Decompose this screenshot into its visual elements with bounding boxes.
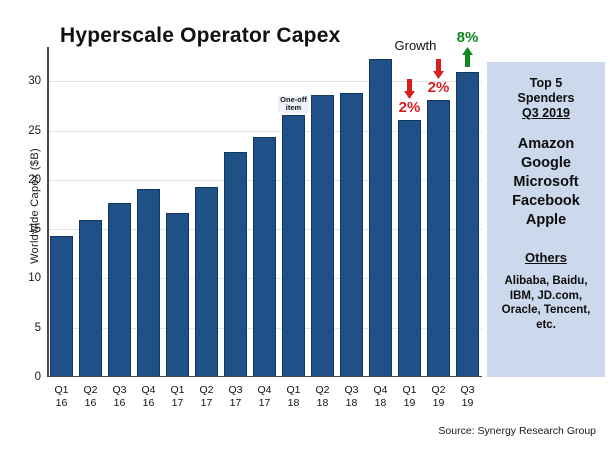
panel-company: Google	[487, 154, 605, 173]
growth-marker: 2%	[424, 58, 453, 96]
x-tick-quarter: Q1	[279, 384, 308, 397]
x-tick-year: 19	[395, 397, 424, 410]
panel-heading-line1: Top 5	[487, 76, 605, 91]
bar	[137, 189, 159, 377]
x-axis-tick-label: Q318	[337, 384, 366, 409]
x-axis-line	[47, 376, 482, 378]
y-axis-tick-label: 25	[28, 125, 41, 137]
bar	[340, 93, 362, 377]
panel-company-list: AmazonGoogleMicrosoftFacebookApple	[487, 135, 605, 230]
x-tick-quarter: Q2	[424, 384, 453, 397]
x-tick-year: 19	[424, 397, 453, 410]
x-tick-quarter: Q2	[192, 384, 221, 397]
bar	[311, 95, 333, 377]
bar	[282, 115, 304, 377]
one-off-item-annotation: One-off item	[278, 96, 309, 113]
x-tick-quarter: Q4	[250, 384, 279, 397]
x-tick-year: 18	[308, 397, 337, 410]
x-tick-year: 17	[221, 397, 250, 410]
x-axis-tick-label: Q416	[134, 384, 163, 409]
y-axis-tick-label: 10	[28, 272, 41, 284]
x-tick-year: 18	[279, 397, 308, 410]
x-tick-quarter: Q2	[76, 384, 105, 397]
panel-company: Microsoft	[487, 173, 605, 192]
x-tick-year: 17	[192, 397, 221, 410]
growth-value: 8%	[453, 30, 482, 46]
bar	[456, 72, 478, 377]
bar	[253, 137, 275, 377]
x-tick-quarter: Q2	[308, 384, 337, 397]
x-axis-tick-label: Q418	[366, 384, 395, 409]
x-tick-quarter: Q4	[366, 384, 395, 397]
x-tick-year: 16	[105, 397, 134, 410]
y-axis-tick-label: 20	[28, 174, 41, 186]
x-axis-tick-label: Q319	[453, 384, 482, 409]
y-axis-tick-label: 30	[28, 75, 41, 87]
panel-company: Apple	[487, 211, 605, 230]
bar	[398, 120, 420, 377]
x-axis-tick-label: Q316	[105, 384, 134, 409]
source-note: Source: Synergy Research Group	[438, 425, 596, 437]
bar	[108, 203, 130, 377]
y-axis-tick-label: 5	[35, 322, 41, 334]
x-tick-year: 17	[163, 397, 192, 410]
x-axis-tick-label: Q119	[395, 384, 424, 409]
panel-heading-line2: Spenders	[487, 91, 605, 106]
bar	[369, 59, 391, 377]
top-spenders-panel: Top 5 Spenders Q3 2019 AmazonGoogleMicro…	[487, 62, 605, 377]
y-axis-line	[47, 47, 49, 377]
x-tick-year: 16	[134, 397, 163, 410]
x-tick-quarter: Q3	[105, 384, 134, 397]
growth-value: 2%	[424, 80, 453, 96]
growth-arrow	[424, 58, 453, 80]
x-axis-tick-label: Q216	[76, 384, 105, 409]
growth-marker: 2%	[395, 78, 424, 116]
panel-others-heading: Others	[487, 250, 605, 265]
x-axis-tick-label: Q417	[250, 384, 279, 409]
x-tick-quarter: Q3	[337, 384, 366, 397]
arrow-up-icon	[461, 46, 474, 68]
bar	[79, 220, 101, 377]
y-axis-tick-label: 0	[35, 371, 41, 383]
growth-marker: 8%	[453, 30, 482, 68]
x-axis-tick-label: Q217	[192, 384, 221, 409]
growth-arrow	[395, 78, 424, 100]
x-tick-quarter: Q1	[47, 384, 76, 397]
arrow-down-icon	[432, 58, 445, 80]
x-axis-tick-label: Q218	[308, 384, 337, 409]
bar	[195, 187, 217, 377]
x-tick-year: 16	[47, 397, 76, 410]
x-axis-tick-label: Q118	[279, 384, 308, 409]
plot-area: 051015202530 Q116Q216Q316Q416Q117Q217Q31…	[47, 47, 482, 377]
x-tick-year: 16	[76, 397, 105, 410]
x-axis-tick-label: Q116	[47, 384, 76, 409]
x-axis-tick-label: Q317	[221, 384, 250, 409]
arrow-down-icon	[403, 78, 416, 100]
panel-company: Facebook	[487, 192, 605, 211]
bar	[166, 213, 188, 377]
x-tick-quarter: Q1	[163, 384, 192, 397]
growth-label: Growth	[395, 38, 437, 53]
chart-figure: Hyperscale Operator Capex Worldwide Cape…	[0, 0, 610, 457]
x-tick-quarter: Q3	[221, 384, 250, 397]
x-tick-year: 18	[337, 397, 366, 410]
one-off-line2: item	[278, 104, 309, 113]
x-axis-tick-label: Q219	[424, 384, 453, 409]
bar	[224, 152, 246, 377]
panel-company: Amazon	[487, 135, 605, 154]
bar	[427, 100, 449, 377]
growth-value: 2%	[395, 100, 424, 116]
bar	[50, 236, 72, 377]
panel-others-list: Alibaba, Baidu, IBM, JD.com, Oracle, Ten…	[487, 274, 605, 332]
x-tick-quarter: Q1	[395, 384, 424, 397]
x-tick-year: 19	[453, 397, 482, 410]
y-axis-tick-label: 15	[28, 223, 41, 235]
x-tick-quarter: Q3	[453, 384, 482, 397]
x-tick-year: 17	[250, 397, 279, 410]
x-tick-quarter: Q4	[134, 384, 163, 397]
panel-heading-line3: Q3 2019	[487, 106, 605, 121]
growth-arrow	[453, 46, 482, 68]
x-tick-year: 18	[366, 397, 395, 410]
page-title: Hyperscale Operator Capex	[60, 24, 340, 48]
x-axis-tick-label: Q117	[163, 384, 192, 409]
